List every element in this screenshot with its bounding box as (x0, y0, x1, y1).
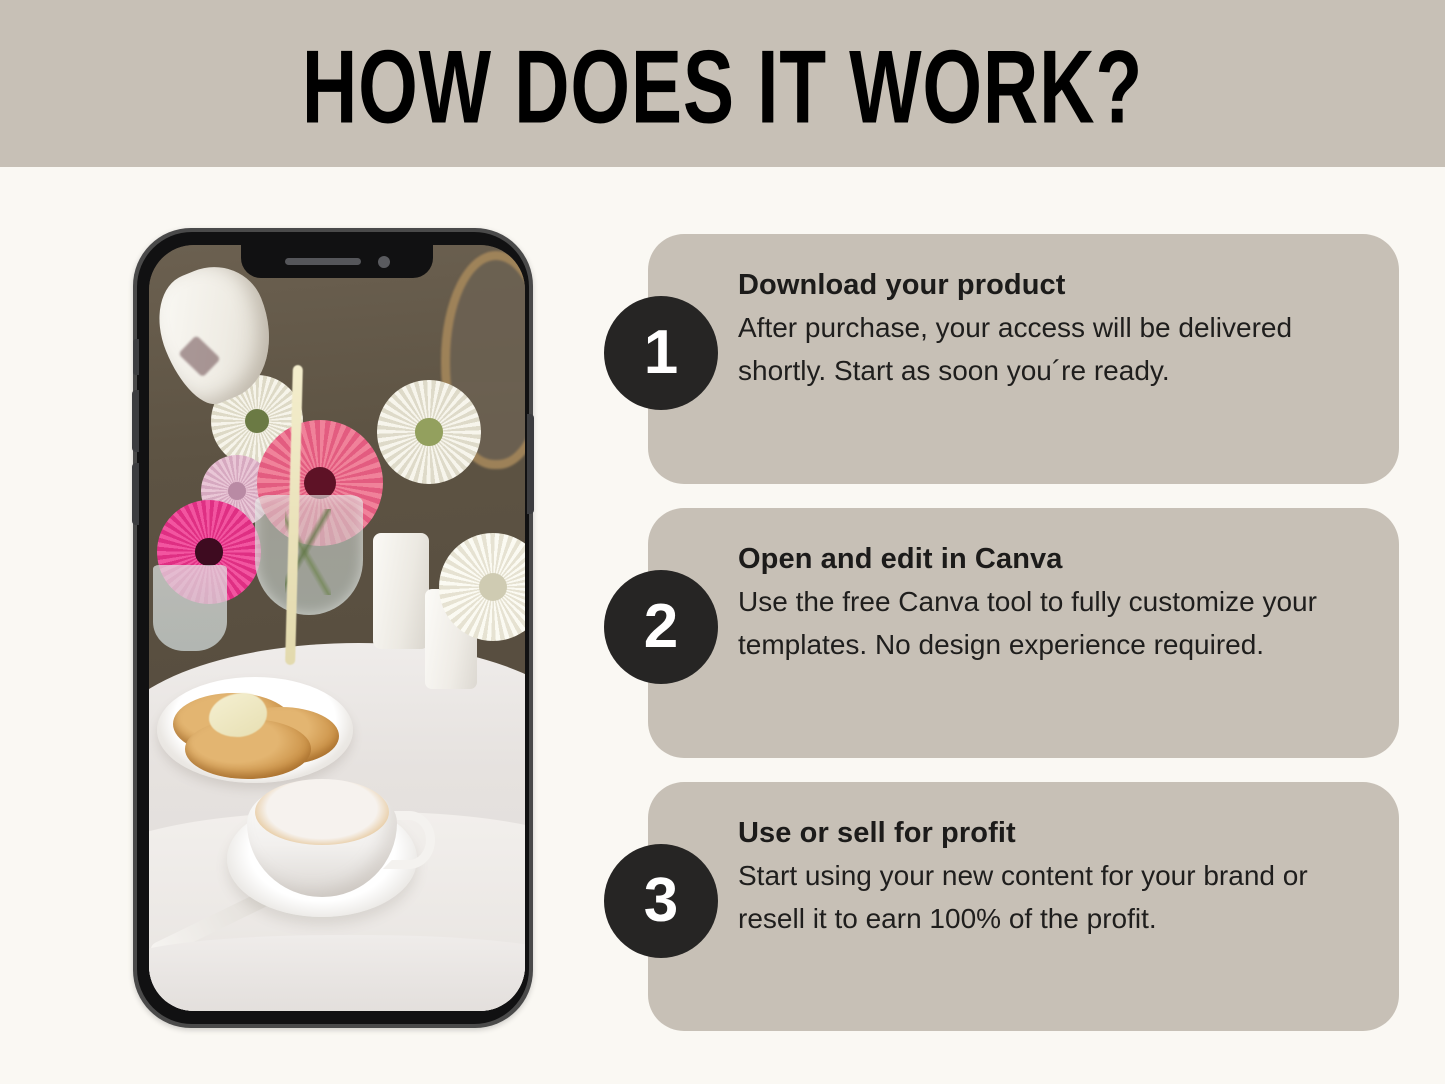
screen-photo (149, 245, 525, 1011)
photo-table-edge (149, 935, 525, 1011)
volume-down-button[interactable] (132, 463, 139, 525)
step-text-2: Open and edit in Canva Use the free Canv… (738, 542, 1358, 666)
page-title: HOW DOES IT WORK? (145, 34, 1301, 142)
step-number-badge-2: 2 (604, 570, 718, 684)
step-heading-3: Use or sell for profit (738, 816, 1358, 850)
photo-white-flower-b (377, 380, 481, 484)
step-text-1: Download your product After purchase, yo… (738, 268, 1358, 392)
power-button[interactable] (527, 414, 534, 514)
silent-switch-button[interactable] (133, 339, 139, 375)
phone-notch (241, 245, 433, 278)
step-body-2: Use the free Canva tool to fully customi… (738, 580, 1358, 666)
phone-mockup (133, 228, 533, 1028)
photo-candle-tall (373, 533, 429, 649)
volume-up-button[interactable] (132, 390, 139, 452)
front-camera-icon (378, 256, 390, 268)
step-number-badge-3: 3 (604, 844, 718, 958)
photo-coffee-crema (255, 779, 389, 845)
phone-screen[interactable] (149, 245, 525, 1011)
phone-frame (133, 228, 533, 1028)
header-bar: HOW DOES IT WORK? (0, 0, 1445, 167)
how-it-works-infographic: HOW DOES IT WORK? (0, 0, 1445, 1084)
step-body-3: Start using your new content for your br… (738, 854, 1358, 940)
step-heading-2: Open and edit in Canva (738, 542, 1358, 576)
phone-body (137, 232, 529, 1024)
step-body-1: After purchase, your access will be deli… (738, 306, 1358, 392)
step-heading-1: Download your product (738, 268, 1358, 302)
photo-water-glass (153, 565, 227, 651)
speaker-grille-icon (285, 258, 361, 265)
step-number-badge-1: 1 (604, 296, 718, 410)
photo-vase (255, 495, 363, 615)
step-text-3: Use or sell for profit Start using your … (738, 816, 1358, 940)
